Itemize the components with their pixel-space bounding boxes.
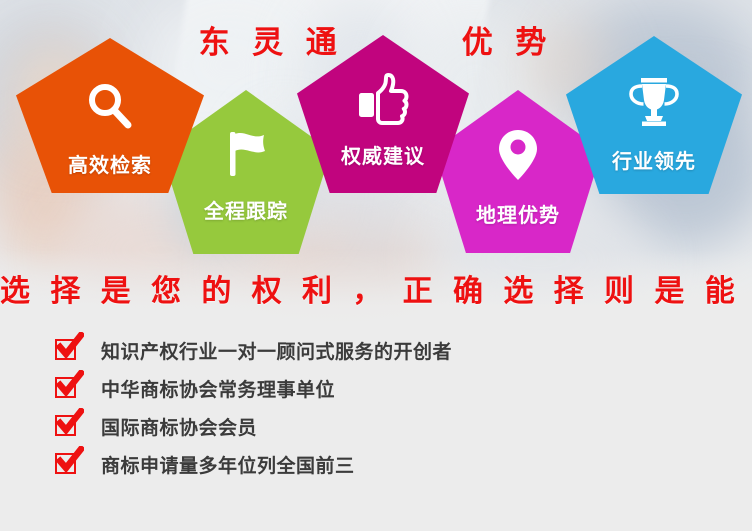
list-item: 商标申请量多年位列全国前三: [55, 445, 452, 483]
feature-label: 地理优势: [476, 199, 560, 228]
magnifier-icon: [84, 80, 136, 137]
list-item: 中华商标协会常务理事单位: [55, 369, 452, 407]
promo-banner: 东 灵 通优 势 高效检索 全程跟踪: [0, 0, 752, 531]
slogan-main: 选 择 是 您 的 权 利 ， 正 确 选 择 则 是 能 力: [0, 275, 752, 308]
feature-industry-leading[interactable]: 行业领先: [566, 36, 742, 194]
list-item-label: 国际商标协会会员: [101, 413, 257, 440]
feature-efficient-search[interactable]: 高效检索: [16, 38, 204, 193]
check-box-icon: [55, 375, 81, 401]
list-item: 国际商标协会会员: [55, 407, 452, 445]
check-box-icon: [55, 451, 81, 477]
slogan-text: 选 择 是 您 的 权 利 ， 正 确 选 择 则 是 能 力！: [0, 266, 752, 310]
feature-label: 高效检索: [68, 149, 152, 178]
trophy-icon: [627, 74, 681, 133]
check-box-icon: [55, 413, 81, 439]
list-item-label: 商标申请量多年位列全国前三: [101, 451, 355, 478]
list-item: 知识产权行业一对一顾问式服务的开创者: [55, 331, 452, 369]
thumbs-up-icon: [356, 73, 410, 130]
location-pin-icon: [496, 128, 540, 187]
feature-authoritative-advice[interactable]: 权威建议: [297, 35, 469, 193]
feature-label: 全程跟踪: [204, 195, 288, 224]
credentials-list: 知识产权行业一对一顾问式服务的开创者 中华商标协会常务理事单位 国际商标协会会员: [55, 331, 452, 483]
feature-label: 行业领先: [612, 145, 696, 174]
feature-label: 权威建议: [341, 140, 425, 169]
list-item-label: 中华商标协会常务理事单位: [101, 375, 335, 402]
flag-icon: [221, 128, 271, 185]
list-item-label: 知识产权行业一对一顾问式服务的开创者: [101, 337, 452, 364]
check-box-icon: [55, 337, 81, 363]
